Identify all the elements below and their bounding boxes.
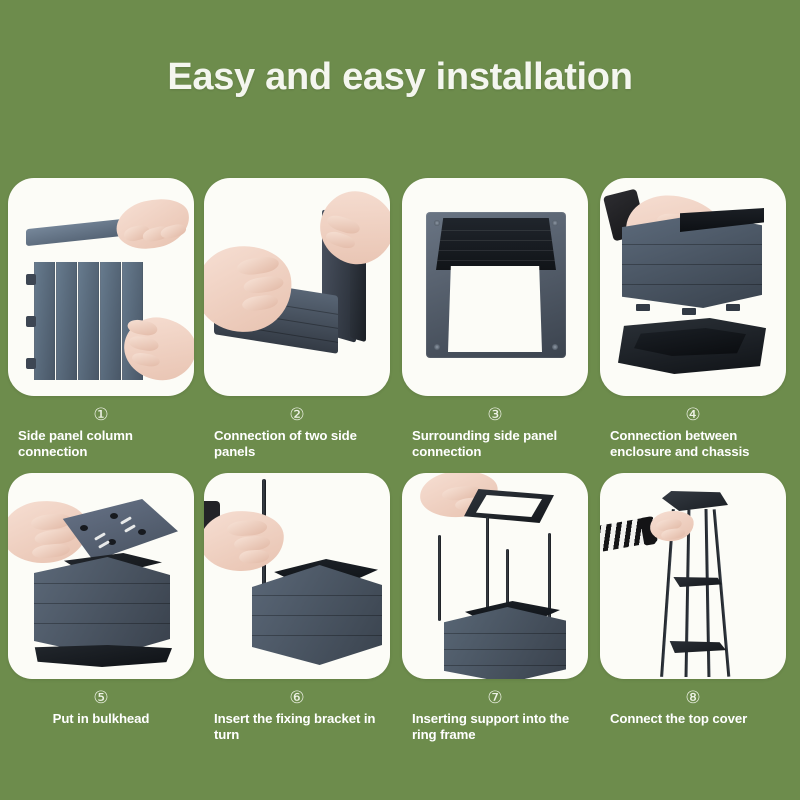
step-number-8: ⑧ xyxy=(600,687,786,709)
hand-inserting-rod xyxy=(204,508,286,574)
box-body xyxy=(252,565,382,665)
step-number-6: ⑥ xyxy=(204,687,390,709)
step-caption-2: ② Connection of two side panels xyxy=(204,404,390,459)
step-label-8: Connect the top cover xyxy=(600,709,786,727)
illustration-connection-of-two-side-panels xyxy=(204,178,390,396)
step-label-2: Connection of two side panels xyxy=(204,426,390,459)
installation-infographic: Easy and easy installation xyxy=(0,0,800,800)
step-card-5: ⑤ Put in bulkhead xyxy=(8,473,194,727)
step-image-4 xyxy=(600,178,786,396)
step-card-6: ⑥ Insert the fixing bracket in turn xyxy=(204,473,390,742)
support-rod-2 xyxy=(486,517,489,621)
illustration-put-in-bulkhead xyxy=(8,473,194,679)
lower-shelf xyxy=(662,641,726,653)
illustration-inserting-support-into-ring-frame xyxy=(402,473,588,679)
step-number-7: ⑦ xyxy=(402,687,588,709)
box-base xyxy=(32,645,172,667)
steps-row-2: ⑤ Put in bulkhead xyxy=(0,473,800,773)
mid-shelf xyxy=(668,577,722,587)
enclosure-inner-wall xyxy=(436,218,556,270)
illustration-connection-enclosure-and-chassis xyxy=(600,178,786,396)
illustration-side-panel-column-connection xyxy=(8,178,194,396)
step-image-7 xyxy=(402,473,588,679)
step-label-1: Side panel column connection xyxy=(8,426,194,459)
step-caption-8: ⑧ Connect the top cover xyxy=(600,687,786,727)
support-rod-1 xyxy=(438,535,441,621)
box-body xyxy=(444,607,566,679)
step-label-4: Connection between enclosure and chassis xyxy=(600,426,786,459)
step-caption-4: ④ Connection between enclosure and chass… xyxy=(600,404,786,459)
step-image-3 xyxy=(402,178,588,396)
step-number-5: ⑤ xyxy=(8,687,194,709)
step-caption-3: ③ Surrounding side panel connection xyxy=(402,404,588,459)
step-caption-1: ① Side panel column connection xyxy=(8,404,194,459)
step-label-6: Insert the fixing bracket in turn xyxy=(204,709,390,742)
step-image-6 xyxy=(204,473,390,679)
step-caption-6: ⑥ Insert the fixing bracket in turn xyxy=(204,687,390,742)
illustration-surrounding-side-panel-connection xyxy=(402,178,588,396)
step-card-8: ⑧ Connect the top cover xyxy=(600,473,786,727)
step-card-4: ④ Connection between enclosure and chass… xyxy=(600,178,786,459)
illustration-insert-fixing-bracket xyxy=(204,473,390,679)
steps-grid: ① Side panel column connection xyxy=(0,178,800,773)
assembled-box xyxy=(34,557,170,657)
step-number-3: ③ xyxy=(402,404,588,426)
step-image-1 xyxy=(8,178,194,396)
step-number-1: ① xyxy=(8,404,194,426)
enclosure-opening xyxy=(448,266,542,352)
step-label-5: Put in bulkhead xyxy=(8,709,194,727)
illustration-connect-top-cover xyxy=(600,473,786,679)
step-image-2 xyxy=(204,178,390,396)
top-cover xyxy=(662,491,728,511)
page-title: Easy and easy installation xyxy=(0,56,800,99)
step-card-2: ② Connection of two side panels xyxy=(204,178,390,459)
step-number-2: ② xyxy=(204,404,390,426)
step-card-3: ③ Surrounding side panel connection xyxy=(402,178,588,459)
step-card-1: ① Side panel column connection xyxy=(8,178,194,459)
step-image-8 xyxy=(600,473,786,679)
step-caption-5: ⑤ Put in bulkhead xyxy=(8,687,194,727)
steps-row-1: ① Side panel column connection xyxy=(0,178,800,473)
step-image-5 xyxy=(8,473,194,679)
step-label-3: Surrounding side panel connection xyxy=(402,426,588,459)
step-label-7: Inserting support into the ring frame xyxy=(402,709,588,742)
step-number-4: ④ xyxy=(600,404,786,426)
step-caption-7: ⑦ Inserting support into the ring frame xyxy=(402,687,588,742)
hand-upper xyxy=(111,192,194,256)
step-card-7: ⑦ Inserting support into the ring frame xyxy=(402,473,588,742)
